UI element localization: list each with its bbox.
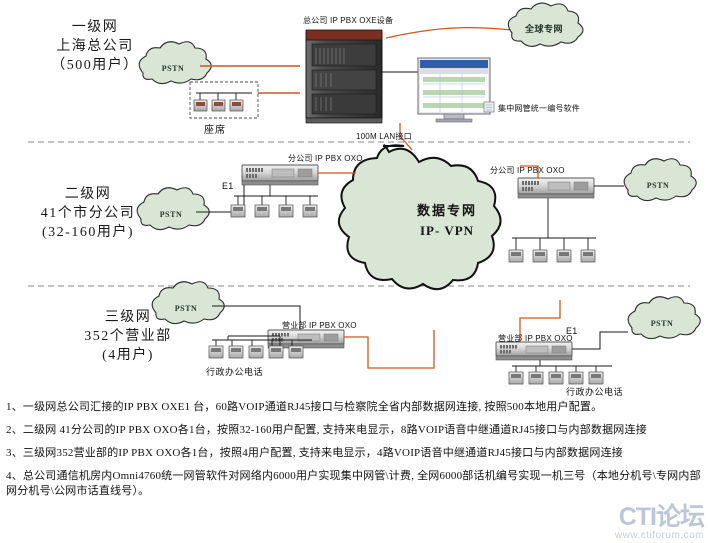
caption-seat-phone: 座席: [204, 121, 226, 136]
link-pstn-to-office-right: [572, 332, 628, 349]
note-item-2: 2、二级网 41分公司的IP PBX OXO各1台，按照32-160用户配置, …: [6, 423, 702, 438]
tier-label-3: 三级网 352个营业部 (4用户): [48, 308, 208, 365]
tier-label-2: 二级网 41个市分公司 (32-160用户): [8, 185, 168, 242]
tier2-line3: (32-160用户): [8, 223, 168, 242]
vpn-cloud-text-wrap: 数据专网 IP- VPN: [352, 200, 542, 239]
office-pbx-left: [268, 330, 344, 348]
link-office-left-to-vpn: [344, 330, 434, 368]
branch-pbx-left: [242, 165, 318, 185]
note-item-1: 1、一级网总公司汇接的IP PBX OXE1 台，60路VOIP通道RJ45接口…: [6, 400, 702, 415]
tier1-line2: 上海总公司: [22, 37, 168, 56]
caption-office-pbx-left: 营业部 IP PBX OXO: [282, 320, 357, 331]
pstn-text: PSTN: [632, 305, 692, 341]
tier3-line1: 三级网: [48, 308, 208, 327]
pstn-label-tier2-right: PSTN: [628, 167, 688, 203]
caption-lan-port: 100M LAN接口: [356, 131, 412, 142]
caption-branch-pbx-left: 分公司 IP PBX OXO: [288, 153, 363, 164]
tier2-line2: 41个市分公司: [8, 204, 168, 223]
tier3-line3: (4用户): [48, 346, 208, 365]
nms-console: [418, 58, 490, 122]
tier1-line1: 一级网: [22, 18, 168, 37]
branch-left-phone-links: [234, 185, 318, 205]
vpn-line-2: IP- VPN: [352, 223, 542, 239]
office-right-phone-icons: [509, 372, 603, 384]
nms-software-icon: [484, 102, 494, 112]
notes-section: 1、一级网总公司汇接的IP PBX OXE1 台，60路VOIP通道RJ45接口…: [0, 396, 708, 543]
caption-office-pbx-right: 营业部 IP PBX OXO: [498, 333, 573, 344]
global-private-net-label: 全球专网: [512, 10, 576, 46]
seat-phone-icons: [194, 100, 243, 111]
tier2-line1: 二级网: [8, 185, 168, 204]
caption-e1-left: E1: [222, 181, 233, 191]
caption-branch-pbx-right: 分公司 IP PBX OXO: [490, 165, 565, 176]
seat-phone-links: [196, 93, 252, 100]
caption-admin-phone-left: 行政办公电话: [206, 365, 263, 378]
office-pbx-right: [496, 342, 572, 360]
link-hq-to-global-net: [386, 28, 512, 38]
note-item-4: 4、总公司通信机房内Omni4760统一网管软件对网络内6000用户实现集中网管…: [6, 469, 702, 499]
branch-left-phone-icons: [231, 205, 317, 217]
global-private-net-text: 全球专网: [512, 10, 576, 46]
hq-pbx-rack: [306, 30, 382, 123]
caption-hq-pbx: 总公司 IP PBX OXE设备: [303, 15, 393, 26]
caption-nms-software: 集中网管统一编号软件: [498, 103, 580, 114]
vpn-line-1: 数据专网: [352, 200, 542, 219]
tier1-line3: （500用户）: [22, 56, 168, 75]
pstn-text: PSTN: [628, 167, 688, 203]
office-right-phone-links: [512, 360, 612, 372]
network-topology-diagram: PSTN PSTN PSTN PSTN PSTN 全球专网 数据专网 IP- V…: [0, 0, 708, 395]
pstn-label-tier3-right: PSTN: [632, 305, 692, 341]
tier-label-1: 一级网 上海总公司 （500用户）: [22, 18, 168, 75]
tier3-line2: 352个营业部: [48, 327, 208, 346]
vpn-cloud-label: 数据专网 IP- VPN: [352, 118, 542, 333]
office-left-phone-icons: [209, 346, 303, 358]
note-item-3: 3、三级网352营业部的IP PBX OXO各1台，按照4用户配置, 支持来电显…: [6, 446, 702, 461]
